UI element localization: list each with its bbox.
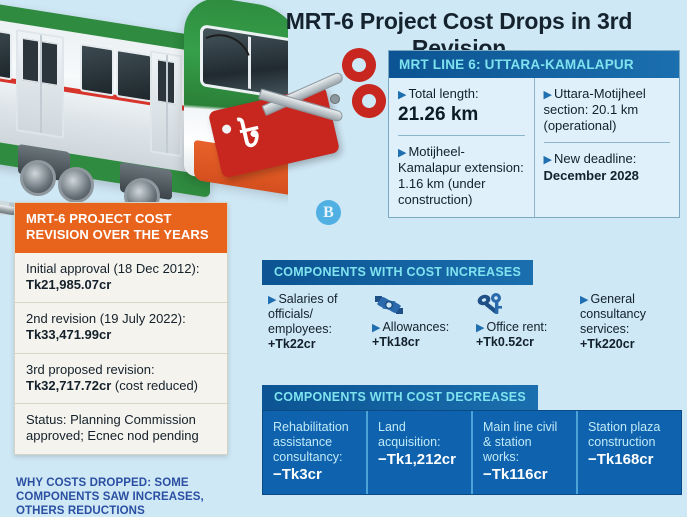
revision-label: 2nd revision (19 July 2022): [26,311,186,326]
line6-item-label: Total length: [408,86,478,101]
decrease-label: Main line civil & station works: [483,420,557,464]
increase-item-allowances: ▶Allowances: +Tk18cr [372,292,472,352]
bullet-icon: ▶ [398,147,406,159]
cost-decreases-heading: COMPONENTS WITH COST DECREASES [262,385,538,410]
taka-symbol-icon: ৳ [235,110,265,156]
carriage-window [116,49,152,103]
bullet-icon: ▶ [544,89,552,101]
increase-label: Salaries of officials/ employees: [268,292,338,336]
revision-label: Initial approval (18 Dec 2012): [26,261,199,276]
increase-item-consultancy: ▶General consultancy services: +Tk220cr [580,292,680,352]
why-costs-dropped-note: WHY COSTS DROPPED: SOME COMPONENTS SAW I… [16,476,231,517]
carriage-door [16,29,64,139]
line6-item-value: 21.26 km [398,103,525,126]
increase-amount: +Tk22cr [268,337,368,352]
cost-increases-list: ▶Salaries of officials/ employees: +Tk22… [268,292,680,352]
decrease-label: Land acquisition: [378,420,441,449]
line6-item-label: Motijheel-Kamalapur [398,144,465,175]
increase-label: Office rent: [486,320,547,334]
revision-suffix: (cost reduced) [111,378,198,393]
bullet-icon: ▶ [372,322,380,334]
revision-row-3rd: 3rd proposed revision: Tk32,717.72cr (co… [15,353,227,404]
bullet-icon: ▶ [580,294,588,306]
hands-coin-icon [372,292,472,318]
carriage-door [150,50,182,157]
bullet-icon: ▶ [544,154,552,166]
line6-item-label: Uttara-Motijheel [554,86,646,101]
increase-amount: +Tk18cr [372,335,472,350]
keys-icon [476,292,576,318]
decrease-amount: −Tk1,212cr [378,451,463,469]
line6-item-uttara-motijheel: ▶Uttara-Motijheel section: 20.1 km (oper… [544,86,671,134]
increase-item-office-rent: ▶Office rent: +Tk0.52cr [476,292,576,352]
scissor-handle [348,80,391,123]
mrt-line6-heading: MRT LINE 6: UTTARA-KAMALAPUR [389,51,679,78]
door-window [22,38,39,83]
decrease-amount: −Tk116cr [483,466,568,484]
line6-item-label: New deadline: [554,151,636,166]
door-window [41,41,58,86]
mrt-line6-column-right: ▶Uttara-Motijheel section: 20.1 km (oper… [534,78,680,217]
mrt-line6-column-left: ▶Total length: 21.26 km ▶Motijheel-Kamal… [389,78,534,217]
door-window [157,59,175,104]
decrease-amount: −Tk168cr [588,451,673,469]
decrease-item-main-line: Main line civil & station works: −Tk116c… [471,411,576,494]
train-wheel [58,167,94,203]
line6-item-total-length: ▶Total length: 21.26 km [398,86,525,127]
line6-item-new-deadline: ▶New deadline: December 2028 [544,142,671,183]
scissor-pivot [330,94,340,104]
train-wheel [20,160,56,196]
carriage-window [0,26,12,80]
infographic-root: ৳ B MRT-6 Project Cost Drops in 3rd Revi… [0,0,687,517]
decrease-item-station-plaza: Station plaza construction −Tk168cr [576,411,681,494]
increase-amount: +Tk220cr [580,337,680,352]
mrt-line6-panel: MRT LINE 6: UTTARA-KAMALAPUR ▶Total leng… [388,50,680,218]
revision-amount: Tk33,471.99cr [26,327,111,342]
decrease-item-rehabilitation: Rehabilitation assistance consultancy: −… [263,411,366,494]
revision-label: 3rd proposed revision: [26,362,155,377]
revision-row-status: Status: Planning Commission approved; Ec… [15,403,227,454]
line6-item-motijheel-kamalapur: ▶Motijheel-Kamalapur extension: 1.16 km … [398,135,525,208]
revision-label: Status: Planning Commission approved; Ec… [26,412,199,443]
line6-item-value: section: 20.1 km (operational) [544,102,639,133]
cost-increases-heading: COMPONENTS WITH COST INCREASES [262,260,533,285]
revision-row-2nd: 2nd revision (19 July 2022): Tk33,471.99… [15,302,227,353]
cost-revision-panel: MRT-6 PROJECT COST REVISION OVER THE YEA… [14,202,228,455]
decrease-amount: −Tk3cr [273,466,358,484]
cost-revision-heading: MRT-6 PROJECT COST REVISION OVER THE YEA… [15,203,227,253]
revision-amount: Tk32,717.72cr [26,378,111,393]
revision-row-initial: Initial approval (18 Dec 2012): Tk21,985… [15,253,227,303]
decrease-label: Rehabilitation assistance consultancy: [273,420,349,464]
increase-amount: +Tk0.52cr [476,335,576,350]
decrease-label: Station plaza construction [588,420,660,449]
bullet-icon: ▶ [476,322,484,334]
bullet-icon: ▶ [398,89,406,101]
bullet-icon: ▶ [268,294,276,306]
increase-label: General consultancy services: [580,292,646,336]
increase-label: Allowances: [382,320,449,334]
decrease-item-land-acquisition: Land acquisition: −Tk1,212cr [366,411,471,494]
tag-hole [221,124,232,135]
carriage-window [80,43,114,96]
line6-item-value: December 2028 [544,168,671,184]
increase-item-salaries: ▶Salaries of officials/ employees: +Tk22… [268,292,368,352]
revision-amount: Tk21,985.07cr [26,277,111,292]
publisher-logo: B [316,200,341,225]
cost-decreases-list: Rehabilitation assistance consultancy: −… [262,410,682,495]
